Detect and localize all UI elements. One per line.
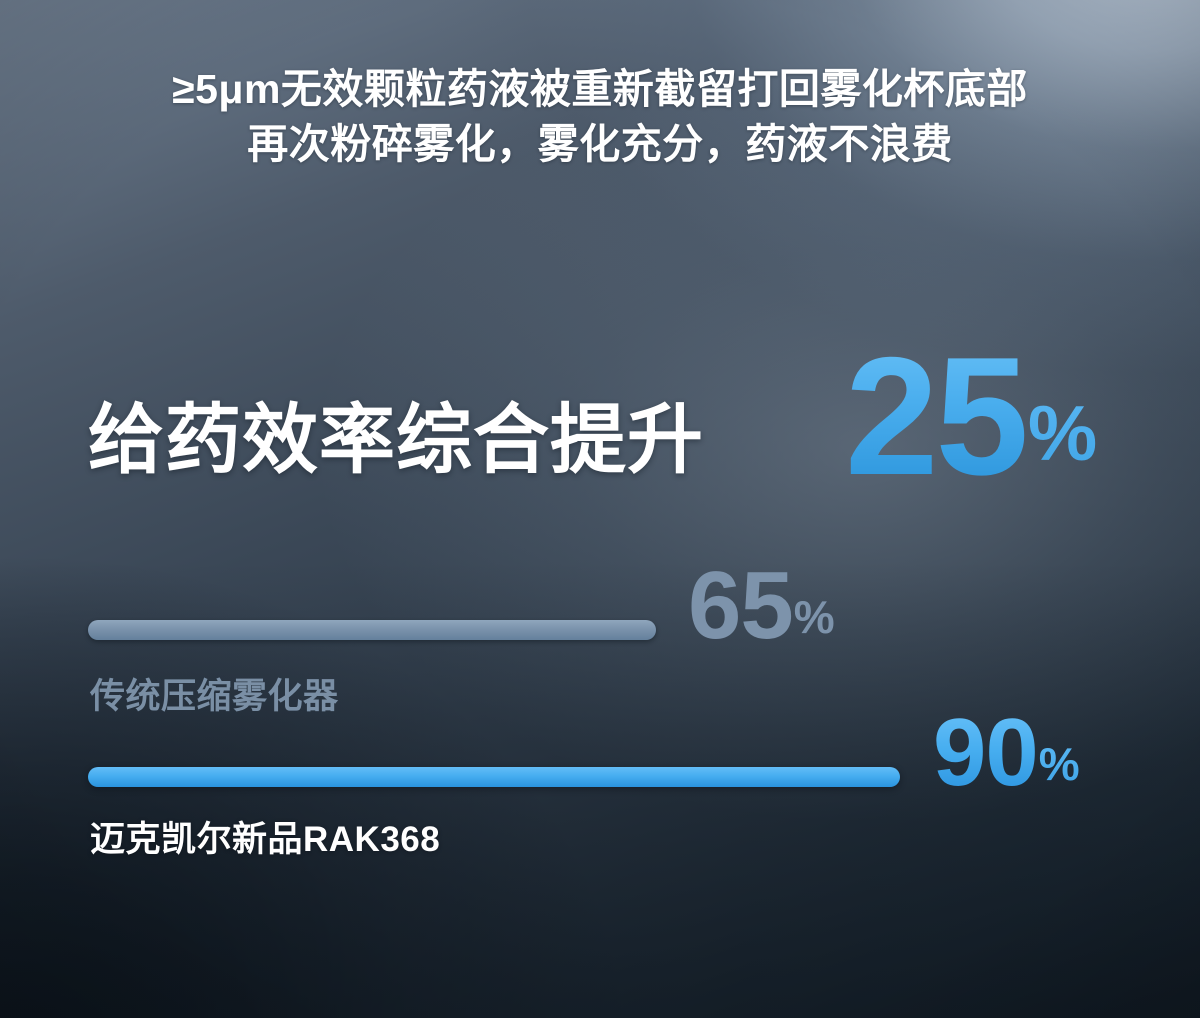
hero-statement: 给药效率综合提升 (88, 398, 704, 484)
bar-label-rak368: 迈克凯尔新品RAK368 (90, 811, 440, 862)
chart-row-traditional: 65 % 传统压缩雾化器 (88, 620, 1148, 640)
bar-label-traditional: 传统压缩雾化器 (90, 668, 339, 719)
hero-value: 25 (845, 344, 1026, 488)
bar-value-unit-traditional: % (794, 594, 835, 648)
hero-unit: % (1028, 394, 1097, 488)
bar-fill-rak368 (88, 767, 900, 787)
headline-line-2: 再次粉碎雾化，雾化充分，药液不浪费 (0, 117, 1200, 172)
bar-value-rak368: 90 % (933, 712, 1080, 795)
comparison-chart: 65 % 传统压缩雾化器 90 % 迈克凯尔新品RAK368 (88, 620, 1148, 787)
bar-fill-traditional (88, 620, 656, 640)
hero-figure: 25 % (845, 344, 1097, 488)
bar-value-number-rak368: 90 (933, 712, 1038, 795)
promo-poster: ≥5μm无效颗粒药液被重新截留打回雾化杯底部 再次粉碎雾化，雾化充分，药液不浪费… (0, 0, 1200, 1018)
headline: ≥5μm无效颗粒药液被重新截留打回雾化杯底部 再次粉碎雾化，雾化充分，药液不浪费 (0, 62, 1200, 172)
bar-value-unit-rak368: % (1039, 741, 1080, 795)
bar-track-traditional (88, 620, 1148, 640)
hero-title: 给药效率综合提升 (88, 398, 704, 484)
headline-line-1: ≥5μm无效颗粒药液被重新截留打回雾化杯底部 (0, 62, 1200, 117)
chart-row-rak368: 90 % 迈克凯尔新品RAK368 (88, 767, 1148, 787)
bar-value-number-traditional: 65 (688, 565, 793, 648)
bar-value-traditional: 65 % (688, 565, 835, 648)
